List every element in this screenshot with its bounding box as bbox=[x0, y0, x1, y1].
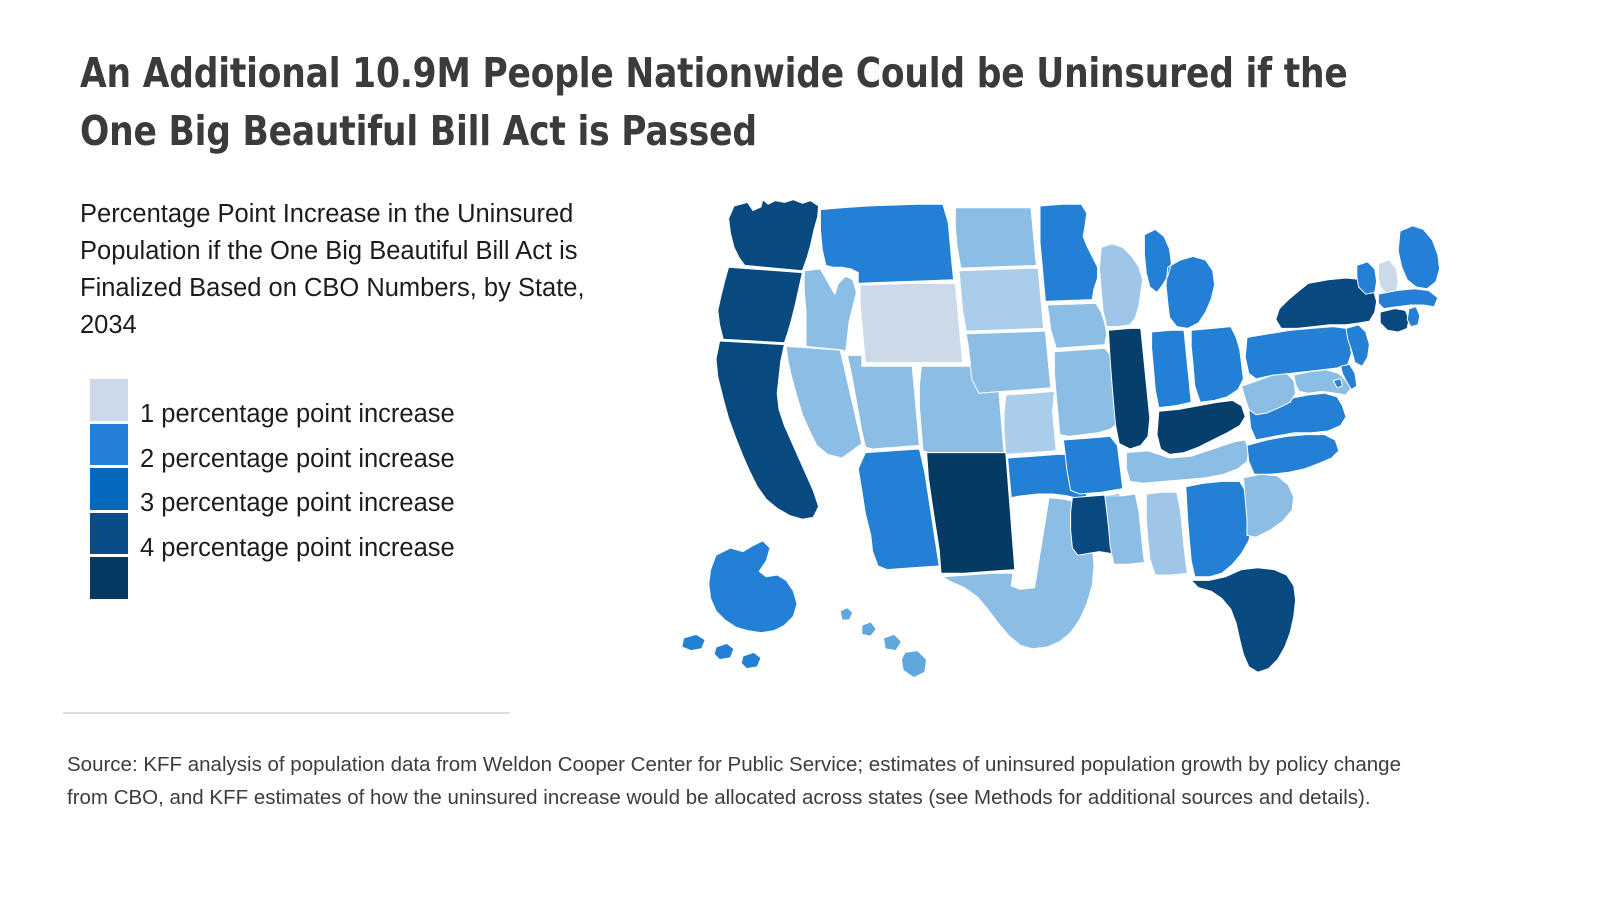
state-hi[interactable] bbox=[840, 607, 926, 677]
state-in[interactable] bbox=[1152, 330, 1192, 407]
state-wi[interactable] bbox=[1099, 244, 1142, 327]
state-mt[interactable] bbox=[820, 204, 953, 283]
state-nm[interactable] bbox=[927, 453, 1015, 574]
state-az[interactable] bbox=[858, 449, 939, 570]
us-states-svg bbox=[618, 170, 1498, 710]
state-wy[interactable] bbox=[860, 283, 963, 362]
legend-swatch-1 bbox=[90, 379, 128, 421]
states-layer bbox=[682, 200, 1440, 678]
state-ri[interactable] bbox=[1407, 307, 1420, 327]
legend-swatch-2 bbox=[90, 424, 128, 466]
state-ak[interactable] bbox=[682, 541, 797, 669]
state-nd[interactable] bbox=[955, 208, 1036, 268]
page-title: An Additional 10.9M People Nationwide Co… bbox=[80, 44, 1408, 160]
state-wa[interactable] bbox=[729, 200, 819, 271]
legend-swatch-4 bbox=[90, 513, 128, 555]
legend-swatch-3 bbox=[90, 468, 128, 510]
legend-label-column: 1 percentage point increase 2 percentage… bbox=[140, 401, 520, 579]
state-nc[interactable] bbox=[1247, 435, 1339, 475]
state-sd[interactable] bbox=[959, 268, 1044, 331]
state-fl[interactable] bbox=[1191, 568, 1295, 672]
state-sc[interactable] bbox=[1243, 474, 1293, 537]
state-ar[interactable] bbox=[1063, 436, 1122, 494]
legend-swatch-5 bbox=[90, 557, 128, 599]
state-ne[interactable] bbox=[966, 331, 1051, 393]
state-nh[interactable] bbox=[1378, 260, 1398, 294]
state-or[interactable] bbox=[718, 267, 803, 343]
footer-divider bbox=[63, 712, 510, 714]
state-ks[interactable] bbox=[1004, 391, 1056, 454]
legend-item-3: 3 percentage point increase bbox=[140, 490, 520, 535]
state-ct[interactable] bbox=[1380, 309, 1409, 332]
legend-item-2: 2 percentage point increase bbox=[140, 446, 520, 491]
state-id[interactable] bbox=[804, 269, 856, 352]
state-mn[interactable] bbox=[1040, 204, 1098, 301]
state-oh[interactable] bbox=[1191, 327, 1243, 403]
source-note: Source: KFF analysis of population data … bbox=[67, 748, 1407, 814]
state-pa[interactable] bbox=[1245, 327, 1351, 379]
legend-item-4: 4 percentage point increase bbox=[140, 535, 520, 580]
state-me[interactable] bbox=[1398, 226, 1439, 289]
chart-subtitle: Percentage Point Increase in the Uninsur… bbox=[80, 196, 592, 344]
state-ia[interactable] bbox=[1047, 303, 1106, 348]
state-al[interactable] bbox=[1146, 492, 1187, 575]
state-il[interactable] bbox=[1108, 328, 1149, 449]
us-choropleth-map bbox=[618, 170, 1498, 710]
legend-item-1: 1 percentage point increase bbox=[140, 401, 520, 446]
state-ga[interactable] bbox=[1186, 481, 1253, 576]
infographic-page: An Additional 10.9M People Nationwide Co… bbox=[0, 0, 1600, 900]
legend-swatch-column bbox=[90, 379, 128, 602]
state-mi[interactable] bbox=[1144, 229, 1214, 328]
